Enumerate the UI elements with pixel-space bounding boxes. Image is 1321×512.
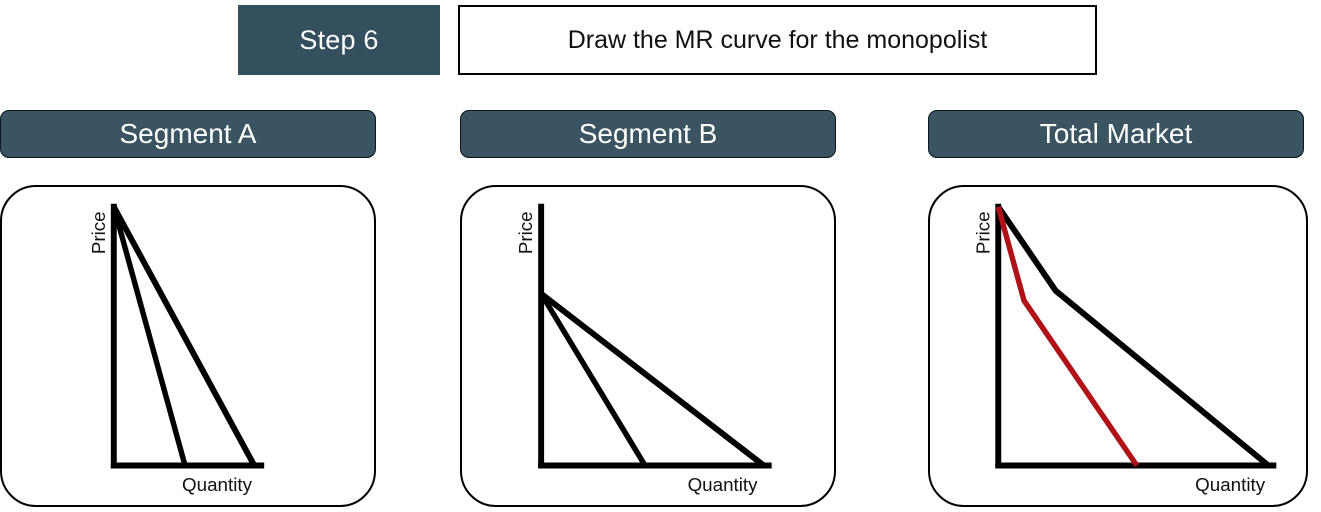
x-axis-label-total-market: Quantity [1195, 474, 1266, 495]
chart-total-market: Price Quantity [930, 187, 1306, 505]
step-badge-label: Step 6 [299, 27, 378, 54]
demand-curve-segment-b [541, 294, 764, 466]
step-badge: Step 6 [238, 5, 440, 75]
panel-header-label-segment-b: Segment B [579, 120, 718, 148]
x-axis-label-segment-a: Quantity [182, 474, 253, 495]
instruction-text: Draw the MR curve for the monopolist [568, 28, 988, 53]
y-axis-label-segment-a: Price [88, 211, 109, 254]
panel-header-total-market: Total Market [928, 110, 1304, 158]
graph-card-segment-a: Price Quantity [0, 185, 376, 507]
graph-card-segment-b: Price Quantity [460, 185, 836, 507]
total-mr-curve [998, 207, 1137, 466]
y-axis-label-total-market: Price [972, 211, 993, 254]
panel-header-segment-b: Segment B [460, 110, 836, 158]
graph-card-total-market: Price Quantity [928, 185, 1308, 507]
panel-header-segment-a: Segment A [0, 110, 376, 158]
y-axis-label-segment-b: Price [515, 211, 536, 254]
panel-header-label-segment-a: Segment A [120, 120, 257, 148]
x-axis-label-segment-b: Quantity [688, 474, 759, 495]
total-demand-curve [998, 207, 1268, 466]
demand-curve-segment-a [114, 207, 254, 466]
mr-curve-segment-b [541, 294, 645, 466]
mr-curve-segment-a [114, 207, 185, 466]
chart-segment-a: Price Quantity [2, 187, 374, 505]
chart-segment-b: Price Quantity [462, 187, 834, 505]
instruction-box: Draw the MR curve for the monopolist [458, 5, 1097, 75]
panel-header-label-total-market: Total Market [1040, 120, 1193, 148]
